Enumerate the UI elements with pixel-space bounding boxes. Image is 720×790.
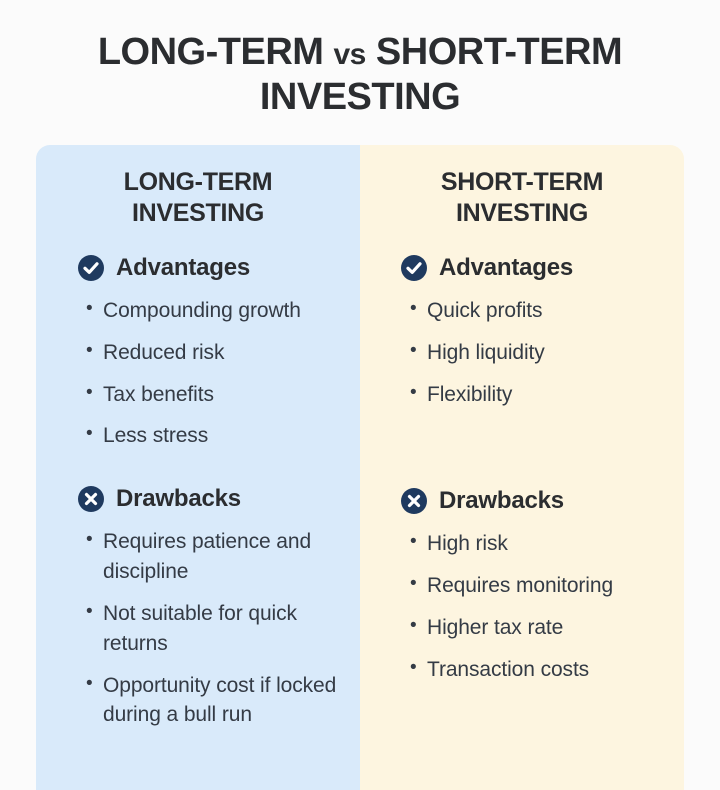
column-heading-line1: LONG-TERM — [124, 168, 273, 196]
section-header-advantages-long: Advantages — [77, 254, 340, 282]
section-header-advantages-short: Advantages — [400, 254, 664, 282]
section-header-drawbacks-long: Drawbacks — [77, 485, 340, 513]
check-circle-icon — [77, 254, 105, 282]
list-item: Transaction costs — [410, 655, 664, 685]
list-item: Quick profits — [410, 296, 664, 326]
section-label-drawbacks: Drawbacks — [439, 487, 564, 515]
section-label-drawbacks: Drawbacks — [116, 485, 241, 513]
list-advantages-short: Quick profits High liquidity Flexibility — [410, 296, 664, 409]
list-item: Not suitable for quick returns — [86, 599, 340, 659]
section-spacer — [380, 421, 664, 487]
column-heading-long-term: LONG-TERM INVESTING — [56, 167, 340, 228]
list-item: Flexibility — [410, 380, 664, 410]
column-heading-short-term: SHORT-TERM INVESTING — [380, 167, 664, 228]
section-spacer — [56, 463, 340, 485]
list-item: Reduced risk — [86, 338, 340, 368]
list-item: Requires monitoring — [410, 571, 664, 601]
comparison-columns: LONG-TERM INVESTING Advantages Compoundi… — [36, 145, 684, 790]
page-title: LONG-TERM vs SHORT-TERM INVESTING — [0, 30, 720, 120]
list-item: Opportunity cost if locked during a bull… — [86, 671, 340, 731]
list-item: High liquidity — [410, 338, 664, 368]
list-item: High risk — [410, 529, 664, 559]
title-line-1: LONG-TERM vs SHORT-TERM — [98, 31, 622, 73]
list-drawbacks-long: Requires patience and discipline Not sui… — [86, 527, 340, 730]
title-short-term: SHORT-TERM — [376, 31, 622, 73]
list-item: Less stress — [86, 421, 340, 451]
x-circle-icon — [77, 485, 105, 513]
section-label-advantages: Advantages — [116, 254, 250, 282]
section-header-drawbacks-short: Drawbacks — [400, 487, 664, 515]
check-circle-icon — [400, 254, 428, 282]
x-circle-icon — [400, 487, 428, 515]
list-drawbacks-short: High risk Requires monitoring Higher tax… — [410, 529, 664, 684]
list-advantages-long: Compounding growth Reduced risk Tax bene… — [86, 296, 340, 451]
list-item: Requires patience and discipline — [86, 527, 340, 587]
list-item: Tax benefits — [86, 380, 340, 410]
title-line-2: INVESTING — [260, 76, 460, 118]
title-vs: vs — [333, 38, 365, 71]
column-short-term: SHORT-TERM INVESTING Advantages Quick pr… — [360, 145, 684, 790]
infographic-page: LONG-TERM vs SHORT-TERM INVESTING LONG-T… — [0, 0, 720, 790]
list-item: Higher tax rate — [410, 613, 664, 643]
column-long-term: LONG-TERM INVESTING Advantages Compoundi… — [36, 145, 360, 790]
list-item: Compounding growth — [86, 296, 340, 326]
column-heading-line1: SHORT-TERM — [441, 168, 603, 196]
title-long-term: LONG-TERM — [98, 31, 324, 73]
section-label-advantages: Advantages — [439, 254, 573, 282]
column-heading-line2: INVESTING — [132, 199, 264, 227]
column-heading-line2: INVESTING — [456, 199, 588, 227]
